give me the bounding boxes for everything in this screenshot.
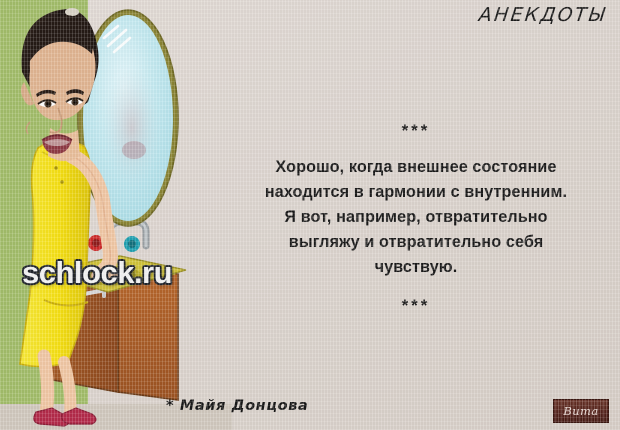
stars-separator-bottom: *** <box>218 297 614 316</box>
quote-line: выгляжу и отвратительно себя <box>218 230 614 255</box>
quote-line: находится в гармонии с внутренним. <box>218 180 614 205</box>
watermark-schlock-ru: schlock.ru <box>22 255 172 291</box>
quote-line: чувствую. <box>218 255 614 280</box>
quote-block: *** Хорошо, когда внешнее состояние нахо… <box>218 122 614 315</box>
illustration-woman-at-mirror <box>0 0 232 430</box>
signature-badge: Вита <box>553 399 609 423</box>
quote-line: Я вот, например, отвратительно <box>218 205 614 230</box>
page-title: АНЕКДОТЫ <box>477 4 607 26</box>
stars-separator-top: *** <box>218 122 614 141</box>
quote-text: Хорошо, когда внешнее состояние находитс… <box>218 155 614 280</box>
attribution-author: * Майя Донцова <box>166 398 308 414</box>
quote-line: Хорошо, когда внешнее состояние <box>218 155 614 180</box>
poster-canvas: schlock.ru АНЕКДОТЫ *** Хорошо, когда вн… <box>0 0 620 430</box>
signature-badge-label: Вита <box>563 404 598 418</box>
